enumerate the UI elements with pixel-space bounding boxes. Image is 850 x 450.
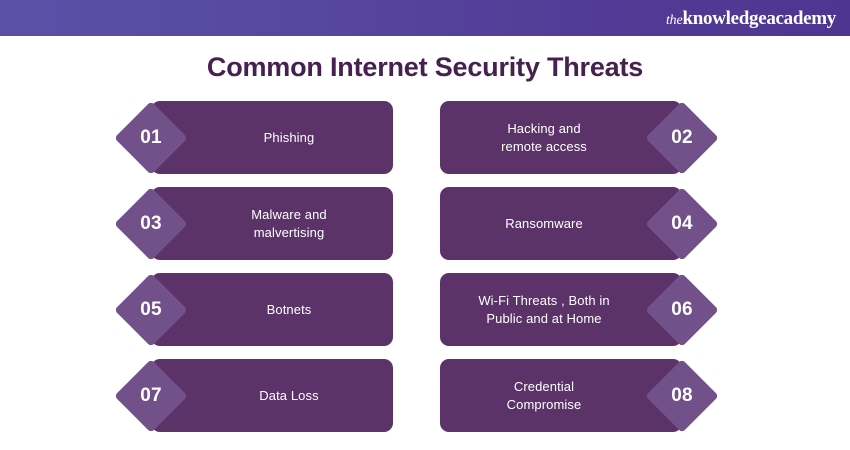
threat-card-07[interactable]: Data Loss07 [151, 359, 393, 432]
threat-card-02[interactable]: Hacking andremote access02 [440, 101, 682, 174]
threat-card-number: 02 [656, 112, 708, 164]
threat-card-06[interactable]: Wi-Fi Threats , Both inPublic and at Hom… [440, 273, 682, 346]
card-row: Malware andmalvertising03Ransomware04 [0, 187, 850, 273]
threat-card-number: 01 [125, 112, 177, 164]
threat-card-label: Phishing [264, 129, 315, 146]
threat-card-number: 08 [656, 370, 708, 422]
threat-cards-grid: Phishing01Hacking andremote access02Malw… [0, 101, 850, 441]
threat-card-number: 07 [125, 370, 177, 422]
threat-card-body: Malware andmalvertising [151, 187, 393, 260]
threat-card-label: Ransomware [505, 215, 583, 232]
threat-card-body: Phishing [151, 101, 393, 174]
threat-card-body: Data Loss [151, 359, 393, 432]
card-row: Phishing01Hacking andremote access02 [0, 101, 850, 187]
brand-logo-prefix: the [666, 13, 683, 28]
threat-card-label: Malware andmalvertising [251, 206, 327, 241]
threat-card-label: Hacking andremote access [501, 120, 587, 155]
threat-card-08[interactable]: CredentialCompromise08 [440, 359, 682, 432]
threat-card-label: CredentialCompromise [507, 378, 582, 413]
threat-card-01[interactable]: Phishing01 [151, 101, 393, 174]
threat-card-number: 06 [656, 284, 708, 336]
header-banner: theknowledgeacademy [0, 0, 850, 36]
threat-card-05[interactable]: Botnets05 [151, 273, 393, 346]
threat-card-label: Wi-Fi Threats , Both inPublic and at Hom… [478, 292, 609, 327]
brand-logo-name: knowledgeacademy [682, 8, 836, 29]
page-title: Common Internet Security Threats [0, 52, 850, 83]
threat-card-number: 03 [125, 198, 177, 250]
threat-card-number: 04 [656, 198, 708, 250]
threat-card-label: Botnets [267, 301, 312, 318]
threat-card-body: Botnets [151, 273, 393, 346]
threat-card-03[interactable]: Malware andmalvertising03 [151, 187, 393, 260]
threat-card-number: 05 [125, 284, 177, 336]
card-row: Data Loss07CredentialCompromise08 [0, 359, 850, 445]
card-row: Botnets05Wi-Fi Threats , Both inPublic a… [0, 273, 850, 359]
threat-card-04[interactable]: Ransomware04 [440, 187, 682, 260]
threat-card-label: Data Loss [259, 387, 318, 404]
brand-logo: theknowledgeacademy [666, 9, 850, 28]
